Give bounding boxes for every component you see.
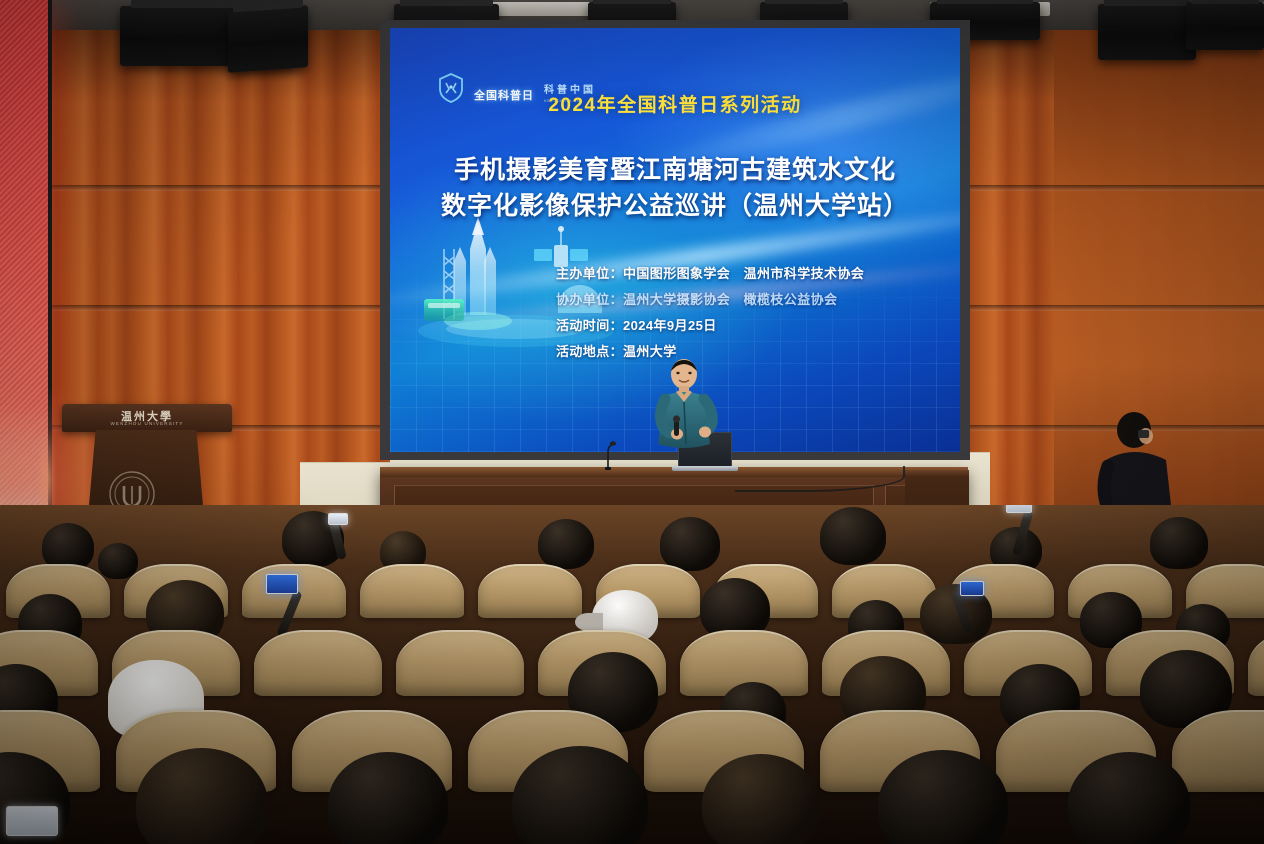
audience-head	[878, 750, 1008, 844]
audience-head	[820, 507, 886, 565]
title-line-1: 手机摄影美育暨江南塘河古建筑水文化	[390, 153, 960, 189]
title-line-2: 数字化影像保护公益巡讲（温州大学站）	[390, 189, 960, 225]
presentation-title: 手机摄影美育暨江南塘河古建筑水文化 数字化影像保护公益巡讲（温州大学站）	[390, 153, 960, 224]
audience-phone	[6, 806, 58, 836]
event-info-block: 主办单位：中国图形图象学会 温州市科学技术协会 协办单位：温州大学摄影协会 橄榄…	[556, 263, 864, 360]
audience-head	[702, 754, 820, 844]
audience-head	[328, 752, 448, 844]
audience-phone	[328, 513, 348, 525]
info-date: 活动时间：2024年9月25日	[556, 315, 864, 334]
audience-head	[512, 746, 648, 844]
auditorium-photo: 全国科普日 科普中国 KEPUCHINA.CN 2024年全国科普日系列活动 手…	[0, 0, 1264, 844]
info-organizer: 主办单位：中国图形图象学会 温州市科学技术协会	[556, 263, 864, 282]
audience-head	[136, 748, 268, 844]
podium-name-en: WENZHOU UNIVERSITY	[62, 421, 232, 426]
ceiling-speaker-panel	[228, 5, 308, 73]
event-banner-text: 2024年全国科普日系列活动	[390, 90, 960, 117]
presenter-speaking	[636, 358, 732, 470]
audience-phone	[1006, 505, 1032, 513]
seat-row	[0, 724, 1264, 844]
audience-head	[1068, 752, 1190, 844]
info-coorganizer: 协办单位：温州大学摄影协会 橄榄枝公益协会	[556, 289, 864, 308]
gooseneck-microphone	[600, 440, 616, 470]
ceiling-speaker-panel	[1186, 2, 1264, 50]
audience-phone	[960, 581, 984, 596]
audience-phone	[266, 574, 298, 594]
seated-audience	[0, 505, 1264, 844]
ceiling-speaker-panel	[1098, 4, 1196, 60]
